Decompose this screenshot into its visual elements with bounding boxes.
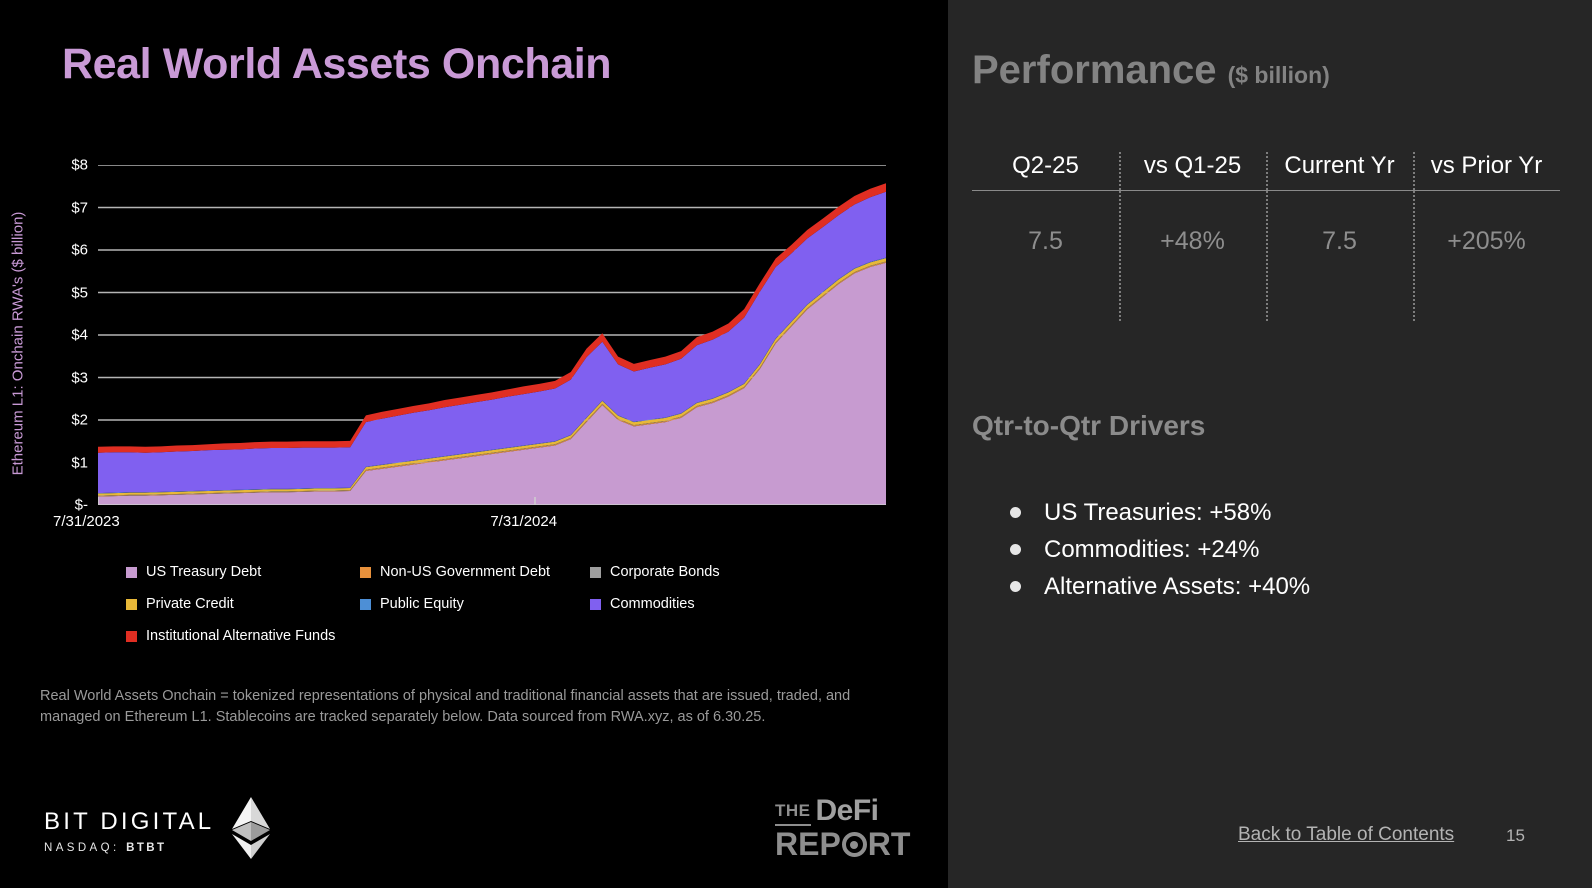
- driver-item: US Treasuries: +58%: [1010, 494, 1310, 531]
- y-axis-tick-label: $7: [71, 199, 88, 216]
- logo-defi: DeFi: [816, 796, 879, 826]
- legend-item-institutional-alternative-funds[interactable]: Institutional Alternative Funds: [126, 628, 546, 644]
- drivers-title: Qtr-to-Qtr Drivers: [972, 410, 1205, 442]
- column-divider: [1119, 191, 1121, 321]
- driver-item: Alternative Assets: +40%: [1010, 568, 1310, 605]
- column-divider: [1266, 152, 1268, 190]
- chart-plot-area: [98, 165, 886, 505]
- ticker-prefix: NASDAQ:: [44, 842, 120, 854]
- y-axis-tick-label: $-: [75, 497, 88, 514]
- legend-swatch-icon: [126, 599, 137, 610]
- target-icon: [842, 832, 867, 857]
- y-axis-tick-label: $6: [71, 242, 88, 259]
- slide-root: Real World Assets Onchain Ethereum L1: O…: [0, 0, 1592, 888]
- x-axis-tick-labels: 7/31/20237/31/2024: [0, 513, 948, 539]
- drivers-list: US Treasuries: +58%Commodities: +24%Alte…: [1010, 494, 1310, 605]
- legend-item-private-credit[interactable]: Private Credit: [126, 596, 360, 612]
- driver-text: Commodities: +24%: [1044, 536, 1259, 564]
- legend-label: Non-US Government Debt: [380, 564, 550, 580]
- bit-digital-logo: BIT DIGITAL NASDAQ: BTBT: [44, 795, 272, 866]
- performance-unit: ($ billion): [1228, 62, 1330, 89]
- legend-swatch-icon: [360, 599, 371, 610]
- x-axis-tick-label: 7/31/2024: [490, 513, 557, 530]
- y-axis-title: Ethereum L1: Onchain RWA's ($ billion): [10, 174, 27, 514]
- column-divider: [1119, 152, 1121, 190]
- legend-item-commodities[interactable]: Commodities: [590, 596, 820, 612]
- chart-svg: [98, 165, 886, 505]
- performance-column-header: Current Yr: [1266, 152, 1413, 190]
- legend-item-public-equity[interactable]: Public Equity: [360, 596, 590, 612]
- y-axis-tick-label: $8: [71, 157, 88, 174]
- rwa-area-chart: Ethereum L1: Onchain RWA's ($ billion) $…: [0, 165, 948, 545]
- driver-text: Alternative Assets: +40%: [1044, 573, 1310, 601]
- column-divider: [1413, 191, 1415, 321]
- ticker-symbol: BTBT: [126, 842, 166, 854]
- column-divider: [1413, 152, 1415, 190]
- performance-title: Performance: [972, 48, 1217, 93]
- performance-value: 7.5: [972, 227, 1119, 321]
- y-axis-tick-labels: $8$7$6$5$4$3$2$1$-: [40, 165, 88, 505]
- ethereum-icon: [230, 795, 272, 866]
- x-axis-tick-label: 7/31/2023: [53, 513, 120, 530]
- chart-areas: [98, 183, 886, 505]
- y-axis-tick-label: $3: [71, 369, 88, 386]
- logo-rep: REP: [775, 828, 841, 861]
- company-name: BIT DIGITAL: [44, 808, 214, 836]
- legend-item-us-treasury-debt[interactable]: US Treasury Debt: [126, 564, 360, 580]
- company-ticker: NASDAQ: BTBT: [44, 842, 214, 854]
- legend-label: Commodities: [610, 596, 695, 612]
- y-axis-tick-label: $5: [71, 284, 88, 301]
- performance-column-header: vs Prior Yr: [1413, 152, 1560, 190]
- performance-value: +205%: [1413, 227, 1560, 321]
- column-divider: [1266, 191, 1268, 321]
- bullet-icon: [1010, 507, 1021, 518]
- driver-item: Commodities: +24%: [1010, 531, 1310, 568]
- performance-table-header: Q2-25vs Q1-25Current Yrvs Prior Yr: [972, 152, 1572, 190]
- defi-report-logo: THE DeFi REP RT: [775, 796, 910, 861]
- performance-column-header: Q2-25: [972, 152, 1119, 190]
- legend-swatch-icon: [590, 567, 601, 578]
- legend-item-non-us-government-debt[interactable]: Non-US Government Debt: [360, 564, 590, 580]
- right-panel: Performance ($ billion) Q2-25vs Q1-25Cur…: [948, 0, 1592, 888]
- chart-legend: US Treasury Debt Non-US Government Debt …: [126, 556, 926, 652]
- logo-the: THE: [775, 801, 811, 826]
- legend-label: Institutional Alternative Funds: [146, 628, 335, 644]
- performance-value: 7.5: [1266, 227, 1413, 321]
- performance-column-header: vs Q1-25: [1119, 152, 1266, 190]
- y-axis-tick-label: $4: [71, 327, 88, 344]
- performance-value: +48%: [1119, 227, 1266, 321]
- logo-rt: RT: [868, 828, 911, 861]
- legend-swatch-icon: [126, 631, 137, 642]
- y-axis-tick-label: $1: [71, 454, 88, 471]
- legend-swatch-icon: [126, 567, 137, 578]
- legend-label: US Treasury Debt: [146, 564, 261, 580]
- y-axis-tick-label: $2: [71, 412, 88, 429]
- page-number: 15: [1506, 826, 1525, 846]
- legend-row-2: Private Credit Public Equity Commodities: [126, 588, 926, 620]
- legend-label: Public Equity: [380, 596, 464, 612]
- legend-swatch-icon: [360, 567, 371, 578]
- performance-table: Q2-25vs Q1-25Current Yrvs Prior Yr 7.5+4…: [972, 152, 1572, 321]
- legend-swatch-icon: [590, 599, 601, 610]
- bullet-icon: [1010, 581, 1021, 592]
- legend-row-3: Institutional Alternative Funds: [126, 620, 926, 652]
- legend-item-corporate-bonds[interactable]: Corporate Bonds: [590, 564, 820, 580]
- performance-header: Performance ($ billion): [972, 48, 1330, 93]
- legend-label: Corporate Bonds: [610, 564, 720, 580]
- page-title: Real World Assets Onchain: [62, 40, 611, 89]
- driver-text: US Treasuries: +58%: [1044, 499, 1271, 527]
- left-panel: Real World Assets Onchain Ethereum L1: O…: [0, 0, 948, 888]
- bullet-icon: [1010, 544, 1021, 555]
- legend-row-1: US Treasury Debt Non-US Government Debt …: [126, 556, 926, 588]
- back-to-toc-link[interactable]: Back to Table of Contents: [1238, 824, 1454, 846]
- legend-label: Private Credit: [146, 596, 234, 612]
- performance-table-row: 7.5+48%7.5+205%: [972, 191, 1572, 321]
- footnote: Real World Assets Onchain = tokenized re…: [40, 686, 912, 728]
